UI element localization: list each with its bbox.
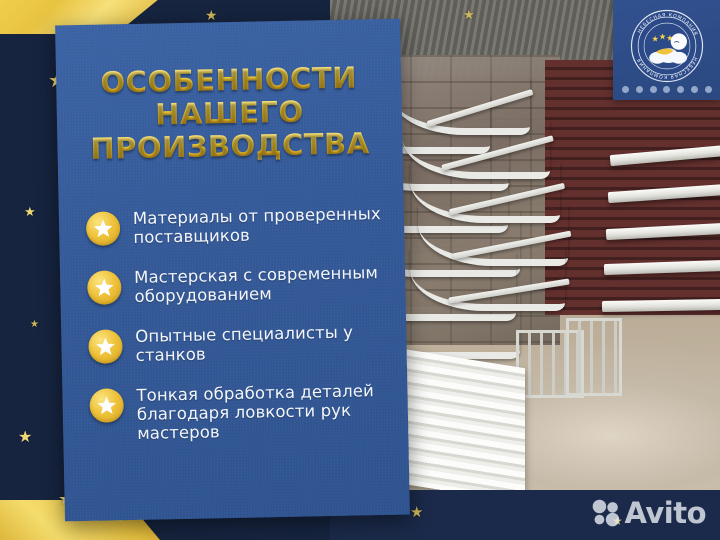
avito-watermark: Avito [591,496,706,530]
decorative-star-icon: ★ [24,205,36,218]
logo-dot [663,86,670,93]
avito-logo-icon [591,498,621,528]
star-badge-icon [88,329,123,364]
list-item: Опытные специалисты у станков [88,322,393,366]
nebesnaya-kompaniya-logo-icon: НЕБЕСНАЯ КОМПАНИЯ НЕБЕСНАЯ КОМПАНИЯ [630,9,704,83]
logo-dot [650,86,657,93]
list-item-label: Тонкая обработка деталей благодаря ловко… [136,381,394,443]
title-line-1: ОСОБЕННОСТИ [56,61,402,101]
page-title: ОСОБЕННОСТИ НАШЕГО ПРОИЗВОДСТВА [56,61,403,167]
list-item: Материалы от проверенных поставщиков [86,204,391,248]
feature-list: Материалы от проверенных поставщиков Мас… [86,204,395,465]
logo-dot [691,86,698,93]
star-badge-icon [87,270,122,305]
decorative-star-icon: ★ [205,8,218,22]
logo-dot [636,86,643,93]
company-logo-panel: НЕБЕСНАЯ КОМПАНИЯ НЕБЕСНАЯ КОМПАНИЯ [613,0,720,100]
star-badge-icon [86,211,121,246]
logo-dot [622,86,629,93]
headline-card: ОСОБЕННОСТИ НАШЕГО ПРОИЗВОДСТВА Материал… [55,19,410,522]
logo-dot-row [613,86,720,93]
star-badge-icon [89,388,124,423]
decorative-star-icon: ★ [410,505,423,520]
logo-dot [677,86,684,93]
decorative-star-icon: ★ [18,430,32,446]
advertisement-canvas: ★★★★★★★★★★★★ ОСОБЕННОСТИ НАШЕГО ПРОИЗВОД… [0,0,720,540]
title-line-3: ПРОИЗВОДСТВА [57,127,403,167]
list-item-label: Мастерская с современным оборудованием [134,263,392,306]
list-item: Мастерская с современным оборудованием [87,263,392,307]
decorative-star-icon: ★ [30,320,39,330]
list-item-label: Материалы от проверенных поставщиков [133,204,391,247]
logo-dot [705,86,712,93]
decorative-star-icon: ★ [463,8,475,21]
avito-label: Avito [624,496,706,530]
list-item-label: Опытные специалисты у станков [135,322,393,365]
list-item: Тонкая обработка деталей благодаря ловко… [89,381,394,444]
